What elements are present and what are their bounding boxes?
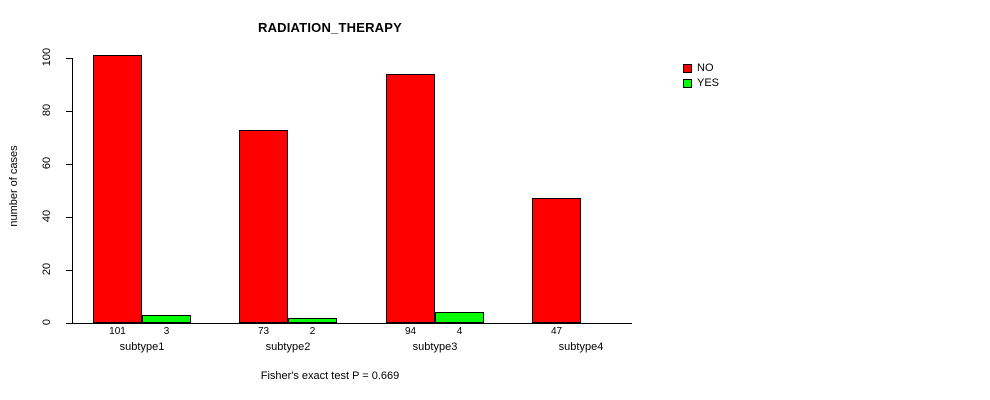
bar-value-label: 47: [532, 326, 581, 337]
y-axis-tick-label: 100: [41, 44, 53, 70]
y-axis-tick-label: 80: [41, 97, 53, 123]
bar-subtype2-yes: [288, 318, 337, 323]
x-axis-group-label-subtype3: subtype3: [386, 341, 484, 353]
bar-subtype3-yes: [435, 312, 484, 323]
y-axis-title: number of cases: [8, 126, 20, 246]
bar-subtype4-no: [532, 198, 581, 323]
y-axis-tick-mark: [66, 217, 73, 218]
x-axis-group-label-subtype2: subtype2: [239, 341, 337, 353]
bar-subtype3-no: [386, 74, 435, 323]
bar-subtype1-yes: [142, 315, 191, 323]
barplot-figure: RADIATION_THERAPY number of cases 020406…: [0, 0, 990, 400]
legend-item-label: YES: [697, 78, 719, 89]
legend-item-label: NO: [697, 63, 714, 74]
y-axis-tick-label: 40: [41, 203, 53, 229]
y-axis-tick-mark: [66, 58, 73, 59]
bar-value-label: 2: [288, 326, 337, 337]
legend-item-yes: YES: [683, 76, 719, 91]
y-axis-tick-label: 20: [41, 256, 53, 282]
footer-annotation-text: Fisher's exact test P = 0.669: [261, 370, 400, 382]
y-axis-line: [72, 58, 73, 324]
legend-item-no: NO: [683, 61, 719, 76]
y-axis-tick-mark: [66, 111, 73, 112]
x-axis-group-label-subtype1: subtype1: [93, 341, 191, 353]
bar-value-label: 94: [386, 326, 435, 337]
legend: NOYES: [683, 61, 719, 91]
x-axis-group-label-subtype4: subtype4: [532, 341, 630, 353]
chart-title: RADIATION_THERAPY: [0, 20, 660, 35]
legend-swatch-icon: [683, 79, 692, 88]
bar-subtype1-no: [93, 55, 142, 323]
footer-annotation: Fisher's exact test P = 0.669: [0, 370, 990, 382]
legend-swatch-icon: [683, 64, 692, 73]
bar-value-label: 3: [142, 326, 191, 337]
bar-subtype2-no: [239, 130, 288, 323]
y-axis-tick-mark: [66, 270, 73, 271]
y-axis-tick-mark: [66, 164, 73, 165]
bar-value-label: 73: [239, 326, 288, 337]
y-axis-tick-label: 60: [41, 150, 53, 176]
bar-value-label: 101: [93, 326, 142, 337]
bar-value-label: 4: [435, 326, 484, 337]
y-axis-tick-label: 0: [41, 309, 53, 335]
x-axis-baseline: [72, 323, 632, 324]
